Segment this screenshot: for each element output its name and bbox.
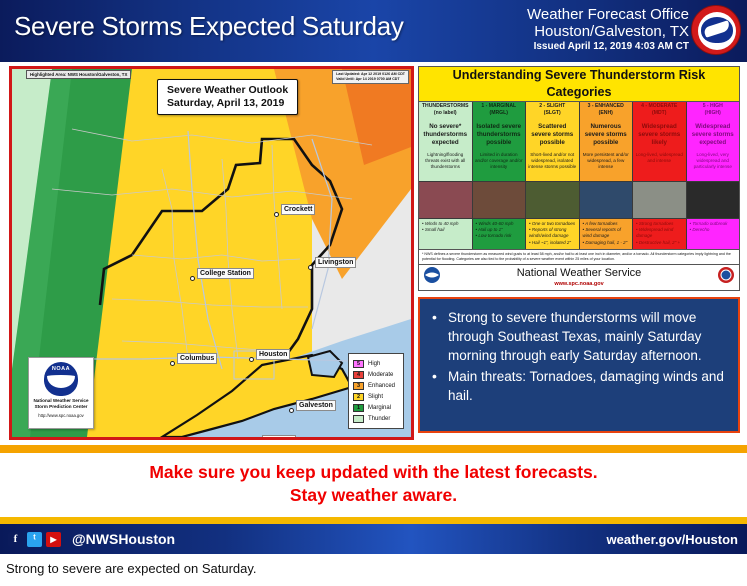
risk-category-photo xyxy=(687,181,740,219)
legend-label: High xyxy=(368,361,380,367)
risk-category-description: Widespread severe storms likely xyxy=(633,119,686,151)
city-dot-icon xyxy=(308,265,313,270)
nws-seal-icon xyxy=(691,5,741,55)
risk-category-impacts: • A few tornadoes• Several reports of wi… xyxy=(580,219,633,250)
risk-category-description: Isolated severe thunderstorms possible xyxy=(473,119,526,151)
risk-category-column: 4 - MODERATE(MDT)Widespread severe storm… xyxy=(633,102,687,249)
office-line-1: Weather Forecast Office xyxy=(527,6,689,23)
city-label: Galveston xyxy=(296,400,336,411)
risk-category-header: 3 - ENHANCED(ENH) xyxy=(580,102,633,119)
risk-category-detail: Long-lived, widespread and intense xyxy=(633,151,686,181)
legend-row: 5High xyxy=(353,358,399,369)
risk-impact-item: • Reports of strong winds/wind damage xyxy=(529,227,577,240)
risk-category-description: Numerous severe storms possible xyxy=(580,119,633,151)
risk-category-column: 1 - MARGINAL(MRGL)Isolated severe thunde… xyxy=(473,102,527,249)
city-dot-icon xyxy=(170,361,175,366)
map-timestamp-stamp: Last Updated: Apr 12 2019 0126 AM CDT Va… xyxy=(332,70,409,84)
body-area: Highlighted Area: NWS Houston/Galveston,… xyxy=(0,62,747,445)
map-highlight-banner: Highlighted Area: NWS Houston/Galveston,… xyxy=(26,70,131,79)
office-line-2: Houston/Galveston, TX xyxy=(527,23,689,40)
risk-category-abbrev: (MRGL) xyxy=(474,110,525,117)
risk-impact-item: • Low tornado risk xyxy=(476,233,524,239)
map-legend: 5High4Moderate3Enhanced2Slight1MarginalT… xyxy=(348,353,404,429)
spc-logo-line-2: Storm Prediction Center xyxy=(29,404,93,410)
header-bar: Severe Storms Expected Saturday Weather … xyxy=(0,0,747,62)
legend-label: Moderate xyxy=(368,372,393,378)
legend-row: 3Enhanced xyxy=(353,380,399,391)
risk-impact-item: • Small hail xyxy=(422,227,470,233)
twitter-icon[interactable]: ᵗ xyxy=(27,532,42,547)
social-bar: f ᵗ ▶ @NWSHouston weather.gov/Houston xyxy=(0,524,747,554)
legend-row: 2Slight xyxy=(353,391,399,402)
risk-category-column: 5 - HIGH(HIGH)Widespread severe storms e… xyxy=(687,102,740,249)
risk-category-photo xyxy=(633,181,686,219)
risk-category-impacts: • Tornado outbreak• Derecho xyxy=(687,219,740,249)
legend-label: Marginal xyxy=(368,405,391,411)
summary-bullet: Strong to severe thunderstorms will move… xyxy=(426,308,730,365)
risk-impact-item: • Widespread wind damage xyxy=(636,227,684,240)
risk-category-description: Scattered severe storms possible xyxy=(526,119,579,151)
city-dot-icon xyxy=(249,357,254,362)
risk-category-description: No severe* thunderstorms expected xyxy=(419,119,472,151)
legend-row: 1Marginal xyxy=(353,402,399,413)
risk-category-detail: More persistent and/or widespread, a few… xyxy=(580,151,633,181)
risk-category-column: THUNDERSTORMS(no label)No severe* thunde… xyxy=(419,102,473,249)
severe-weather-outlook-map[interactable]: Highlighted Area: NWS Houston/Galveston,… xyxy=(9,66,414,440)
post-caption: Strong to severe are expected on Saturda… xyxy=(0,554,747,586)
risk-footnote: * NWS defines a severe thunderstorm as m… xyxy=(419,249,739,264)
legend-label: Enhanced xyxy=(368,383,395,389)
facebook-icon[interactable]: f xyxy=(8,532,23,547)
risk-category-abbrev: (HIGH) xyxy=(688,110,739,117)
legend-row: Thunder xyxy=(353,413,399,424)
legend-swatch: 1 xyxy=(353,404,364,412)
risk-category-abbrev: (no label) xyxy=(420,110,471,117)
nws-bar-url[interactable]: www.spc.noaa.gov xyxy=(445,280,713,288)
nws-attribution-bar: National Weather Service www.spc.noaa.go… xyxy=(419,264,739,290)
legend-label: Slight xyxy=(368,394,383,400)
legend-row: 4Moderate xyxy=(353,369,399,380)
risk-category-photo xyxy=(473,181,526,219)
risk-category-impacts: • Winds to 40 mph• Small hail xyxy=(419,219,472,249)
risk-category-column: 3 - ENHANCED(ENH)Numerous severe storms … xyxy=(580,102,634,249)
legend-swatch: 3 xyxy=(353,382,364,390)
risk-category-photo xyxy=(419,181,472,219)
city-dot-icon xyxy=(190,276,195,281)
risk-impact-item: • Derecho xyxy=(690,227,738,233)
risk-category-impacts: • Strong tornadoes• Widespread wind dama… xyxy=(633,219,686,250)
risk-category-column: 2 - SLIGHT(SLGT)Scattered severe storms … xyxy=(526,102,580,249)
risk-card-title: Understanding Severe Thunderstorm Risk C… xyxy=(419,67,739,102)
city-label: Freeport xyxy=(262,435,296,437)
nws-bar-title: National Weather Service xyxy=(445,267,713,280)
cta-line-1: Make sure you keep updated with the late… xyxy=(0,461,747,484)
city-label: Houston xyxy=(256,349,290,360)
legend-swatch: 4 xyxy=(353,371,364,379)
risk-category-photo xyxy=(526,181,579,219)
page-title: Severe Storms Expected Saturday xyxy=(14,11,404,42)
map-title-box: Severe Weather Outlook Saturday, April 1… xyxy=(157,79,298,115)
issued-timestamp: Issued April 12, 2019 4:03 AM CT xyxy=(527,40,689,54)
risk-category-header: 1 - MARGINAL(MRGL) xyxy=(473,102,526,119)
risk-impact-item: • Damaging hail, 1 - 2" xyxy=(583,240,631,246)
office-block: Weather Forecast Office Houston/Galvesto… xyxy=(527,6,689,54)
legend-swatch xyxy=(353,415,364,423)
city-label: College Station xyxy=(197,268,254,279)
risk-category-detail: Lightning/flooding threats exist with al… xyxy=(419,151,472,181)
city-label: Crockett xyxy=(281,204,315,215)
legend-label: Thunder xyxy=(368,416,390,422)
map-title-line-2: Saturday, April 13, 2019 xyxy=(167,97,288,110)
website-url[interactable]: weather.gov/Houston xyxy=(607,532,738,547)
right-panel: Understanding Severe Thunderstorm Risk C… xyxy=(418,66,740,440)
risk-category-photo xyxy=(580,181,633,219)
call-to-action: Make sure you keep updated with the late… xyxy=(0,453,747,517)
city-label: Livingston xyxy=(315,257,356,268)
city-dot-icon xyxy=(274,212,279,217)
risk-category-name: 3 - ENHANCED xyxy=(581,103,632,110)
risk-category-impacts: • One or two tornadoes• Reports of stron… xyxy=(526,219,579,250)
risk-category-abbrev: (ENH) xyxy=(581,110,632,117)
risk-category-detail: Short-lived and/or not widespread, isola… xyxy=(526,151,579,181)
risk-category-name: 1 - MARGINAL xyxy=(474,103,525,110)
gold-divider xyxy=(0,517,747,524)
risk-category-name: 2 - SLIGHT xyxy=(527,103,578,110)
map-valid-until: Valid Until: Apr 14 2019 0700 AM CDT xyxy=(336,77,405,82)
summary-bullet: Main threats: Tornadoes, damaging winds … xyxy=(426,367,730,405)
map-title-line-1: Severe Weather Outlook xyxy=(167,84,288,97)
spc-logo-url: http://www.spc.noaa.gov xyxy=(29,412,93,419)
risk-category-header: 2 - SLIGHT(SLGT) xyxy=(526,102,579,119)
risk-category-detail: Limited in duration and/or coverage and/… xyxy=(473,151,526,181)
legend-swatch: 2 xyxy=(353,393,364,401)
noaa-emblem-word: NOAA xyxy=(44,366,78,372)
risk-categories-table: THUNDERSTORMS(no label)No severe* thunde… xyxy=(419,102,739,249)
city-label: Columbus xyxy=(177,353,217,364)
risk-impact-item: • Hail ~1", isolated 2" xyxy=(529,240,577,246)
noaa-emblem-icon: NOAA xyxy=(44,362,78,396)
social-icon-group: f ᵗ ▶ xyxy=(8,532,65,547)
noaa-logo-icon xyxy=(419,266,445,289)
spc-seal-icon xyxy=(713,266,739,289)
risk-category-impacts: • Winds 40-60 mph• Hail up to 1"• Low to… xyxy=(473,219,526,249)
spc-logo: NOAA National Weather Service Storm Pred… xyxy=(28,357,94,429)
risk-category-detail: Long-lived, very widespread and particul… xyxy=(687,151,740,181)
youtube-icon[interactable]: ▶ xyxy=(46,532,61,547)
social-handle[interactable]: @NWSHouston xyxy=(72,531,175,547)
risk-category-abbrev: (SLGT) xyxy=(527,110,578,117)
legend-swatch: 5 xyxy=(353,360,364,368)
risk-category-header: 5 - HIGH(HIGH) xyxy=(687,102,740,119)
risk-impact-item: • Destructive hail, 2" + xyxy=(636,240,684,246)
risk-category-description: Widespread severe storms expected xyxy=(687,119,740,151)
risk-category-header: THUNDERSTORMS(no label) xyxy=(419,102,472,119)
summary-box: Strong to severe thunderstorms will move… xyxy=(418,297,740,433)
city-dot-icon xyxy=(289,408,294,413)
risk-impact-item: • Several reports of wind damage xyxy=(583,227,631,240)
risk-category-header: 4 - MODERATE(MDT) xyxy=(633,102,686,119)
risk-categories-card: Understanding Severe Thunderstorm Risk C… xyxy=(418,66,740,291)
risk-category-name: THUNDERSTORMS xyxy=(420,103,471,110)
cta-line-2: Stay weather aware. xyxy=(0,484,747,507)
risk-category-name: 4 - MODERATE xyxy=(634,103,685,110)
weather-graphic: Severe Storms Expected Saturday Weather … xyxy=(0,0,747,554)
risk-category-name: 5 - HIGH xyxy=(688,103,739,110)
risk-category-abbrev: (MDT) xyxy=(634,110,685,117)
orange-divider xyxy=(0,445,747,453)
